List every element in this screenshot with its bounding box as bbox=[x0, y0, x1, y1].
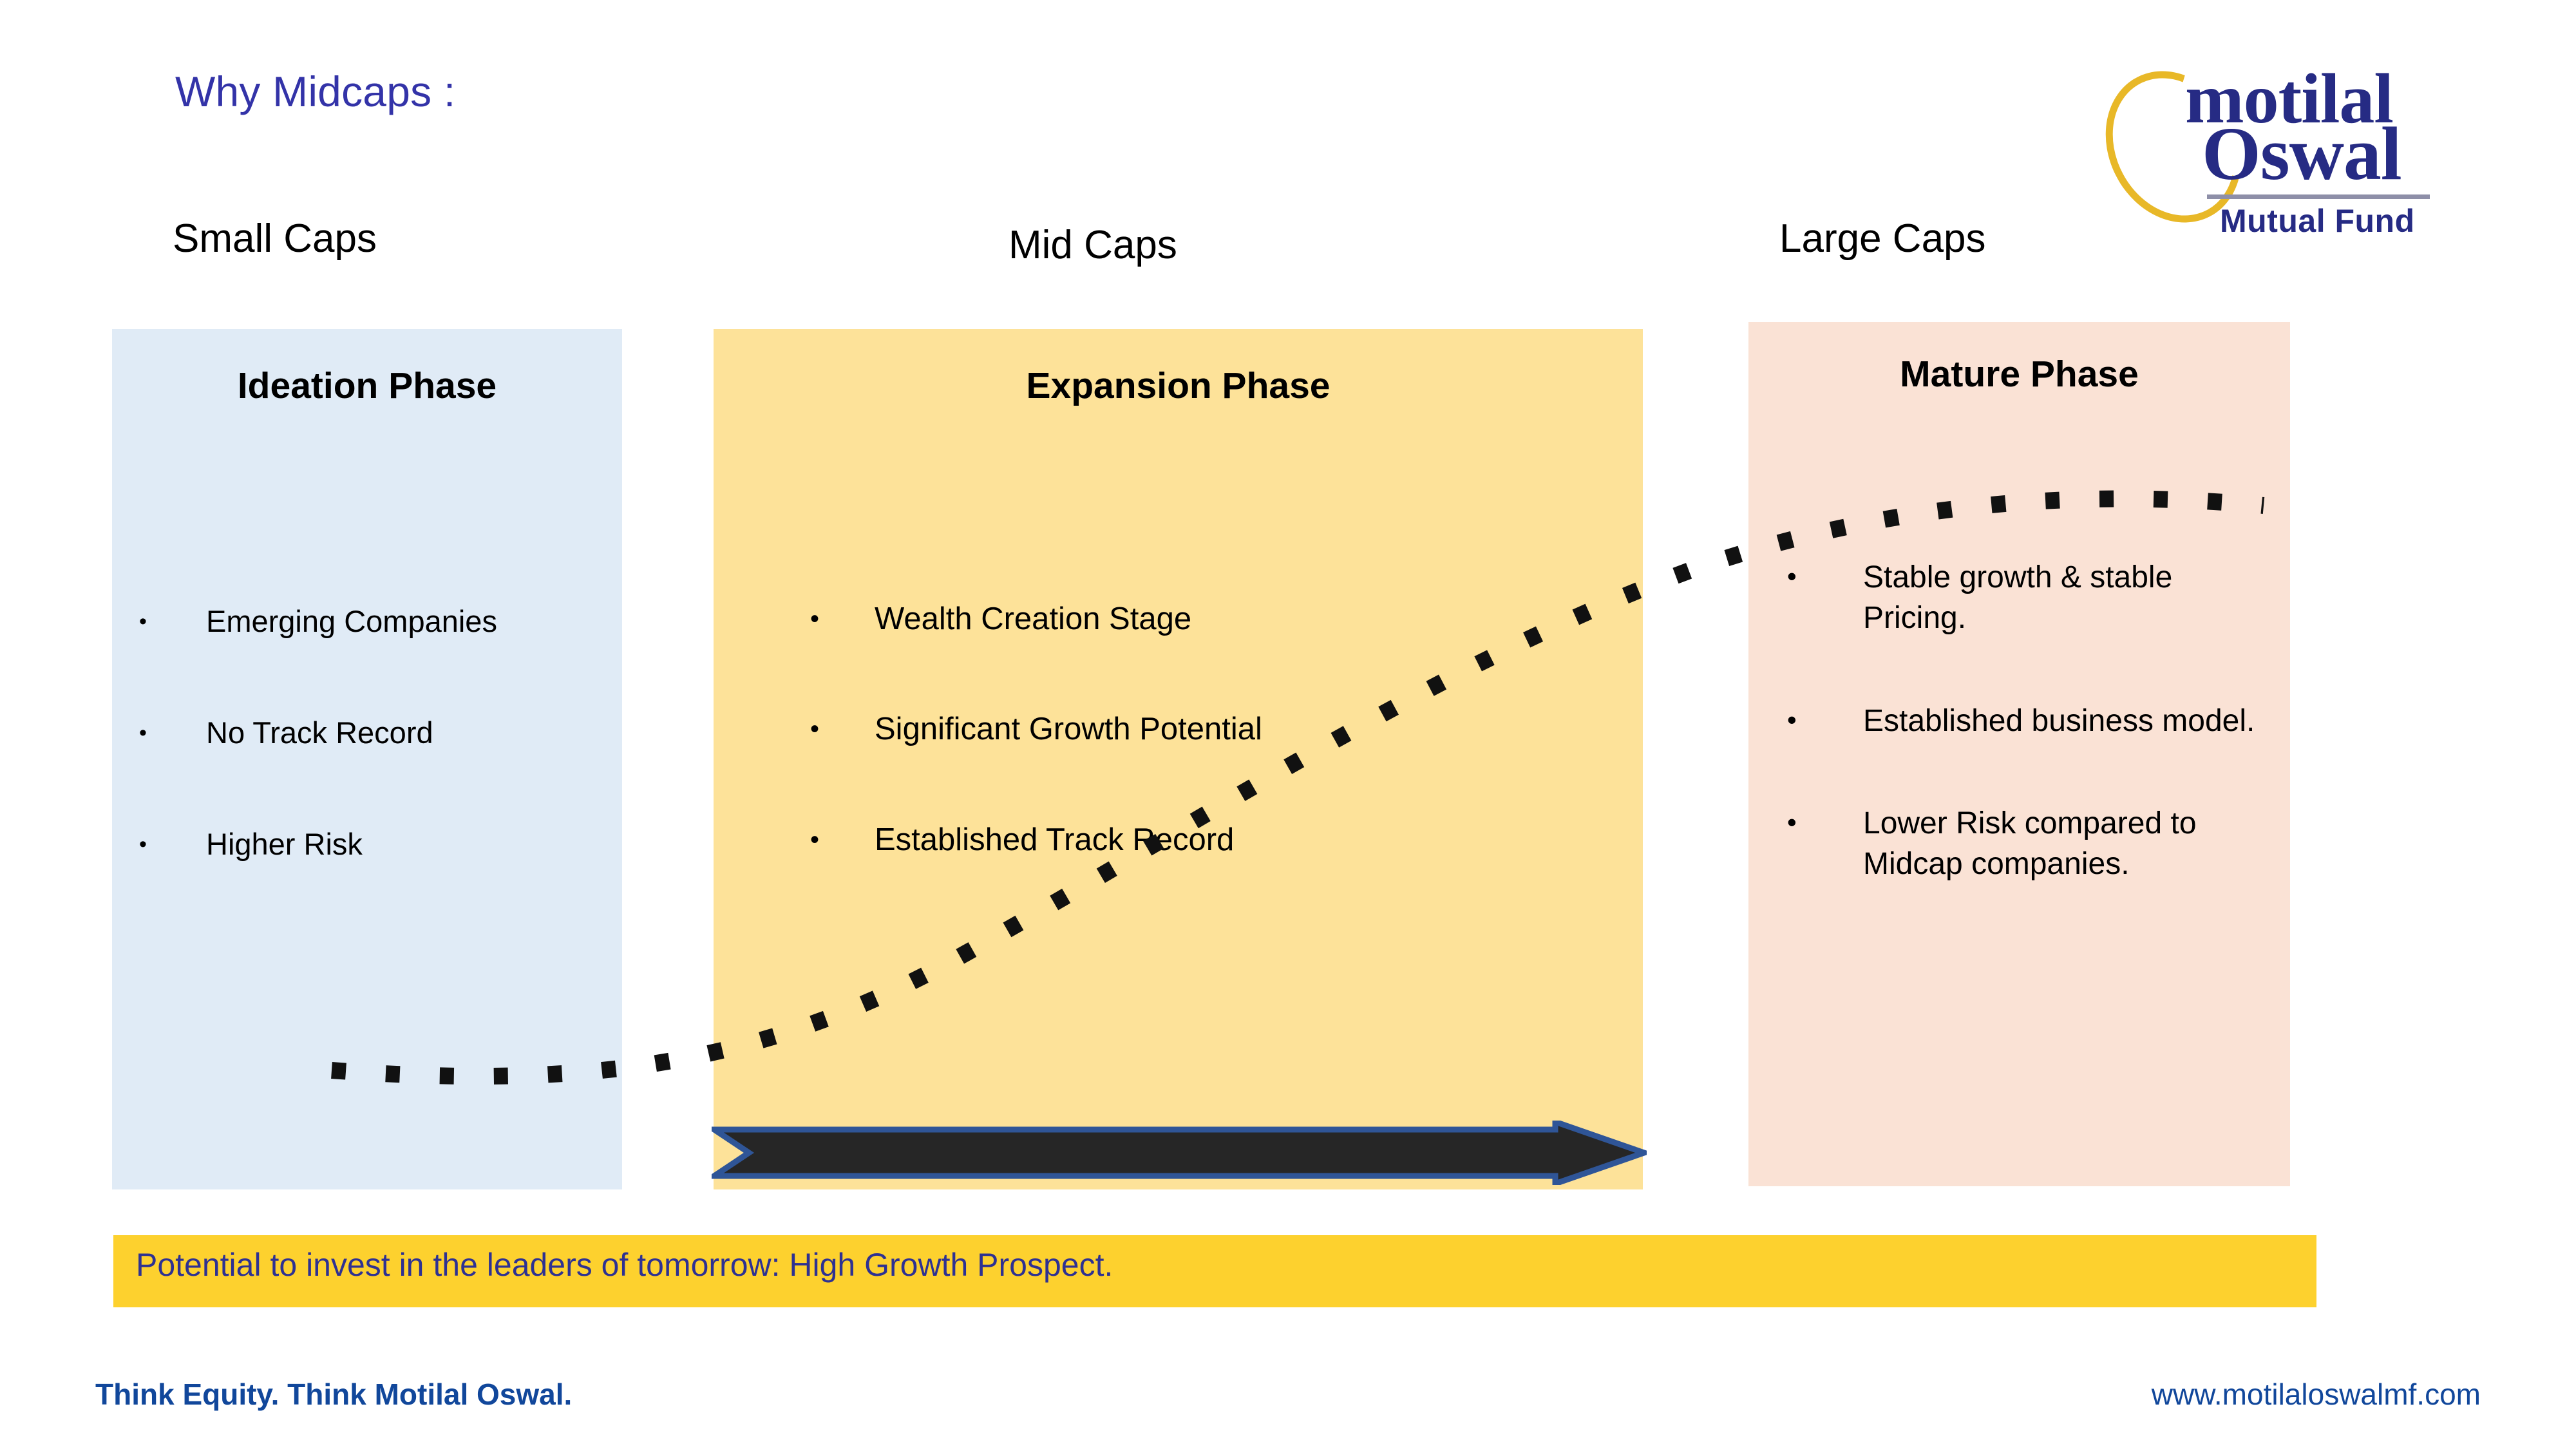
column-caption-small-caps: Small Caps bbox=[173, 216, 377, 261]
logo-subtitle: Mutual Fund bbox=[2220, 202, 2415, 240]
column-caption-mid-caps: Mid Caps bbox=[1009, 222, 1177, 268]
bullet-text: Stable growth & stable Pricing. bbox=[1863, 557, 2277, 639]
bullet-dot-icon: • bbox=[139, 826, 147, 863]
logo-divider bbox=[2207, 194, 2430, 199]
bullet-dot-icon: • bbox=[139, 714, 147, 752]
bullet-text: Established business model. bbox=[1863, 701, 2277, 741]
expansion-arrow-icon bbox=[712, 1121, 1647, 1185]
bullet-dot-icon: • bbox=[139, 603, 147, 640]
bullet-dot-icon: • bbox=[810, 710, 819, 748]
bullet-list-expansion: •Wealth Creation Stage •Significant Grow… bbox=[810, 600, 1551, 931]
bullet-text: Significant Growth Potential bbox=[875, 710, 1551, 749]
phase-box-ideation: Ideation Phase •Emerging Companies •No T… bbox=[112, 329, 622, 1189]
bullet-dot-icon: • bbox=[1787, 803, 1797, 842]
footer-website-link[interactable]: www.motilaloswalmf.com bbox=[2152, 1377, 2481, 1412]
highlight-banner: Potential to invest in the leaders of to… bbox=[113, 1235, 2316, 1307]
column-caption-large-caps: Large Caps bbox=[1779, 216, 1986, 261]
list-item: •Established business model. bbox=[1787, 701, 2277, 741]
slide-canvas: Why Midcaps : motilal Oswal Mutual Fund … bbox=[0, 0, 2576, 1449]
bullet-text: No Track Record bbox=[206, 714, 590, 752]
list-item: •Wealth Creation Stage bbox=[810, 600, 1551, 639]
bullet-dot-icon: • bbox=[1787, 557, 1797, 596]
phase-title-mature: Mature Phase bbox=[1748, 353, 2290, 395]
list-item: •Stable growth & stable Pricing. bbox=[1787, 557, 2277, 639]
bullet-list-mature: •Stable growth & stable Pricing. •Establ… bbox=[1787, 557, 2277, 947]
list-item: •Emerging Companies bbox=[139, 603, 590, 641]
motilal-oswal-logo: motilal Oswal Mutual Fund bbox=[2103, 57, 2515, 243]
logo-word-oswal: Oswal bbox=[2202, 116, 2401, 192]
bullet-dot-icon: • bbox=[1787, 701, 1797, 740]
bullet-dot-icon: • bbox=[810, 600, 819, 638]
phase-title-ideation: Ideation Phase bbox=[112, 365, 622, 407]
list-item: •Established Track Record bbox=[810, 820, 1551, 860]
bullet-text: Established Track Record bbox=[875, 820, 1551, 860]
phase-box-mature: Mature Phase •Stable growth & stable Pri… bbox=[1748, 322, 2290, 1186]
page-title: Why Midcaps : bbox=[175, 67, 455, 116]
list-item: •Higher Risk bbox=[139, 826, 590, 864]
phase-title-expansion: Expansion Phase bbox=[714, 365, 1643, 407]
bullet-text: Higher Risk bbox=[206, 826, 590, 864]
highlight-banner-text: Potential to invest in the leaders of to… bbox=[136, 1246, 1113, 1283]
phase-box-expansion: Expansion Phase •Wealth Creation Stage •… bbox=[714, 329, 1643, 1189]
bullet-text: Wealth Creation Stage bbox=[875, 600, 1551, 639]
bullet-dot-icon: • bbox=[810, 820, 819, 859]
footer-tagline: Think Equity. Think Motilal Oswal. bbox=[95, 1377, 572, 1412]
arrow-shape bbox=[714, 1122, 1644, 1184]
list-item: •No Track Record bbox=[139, 714, 590, 752]
list-item: •Significant Growth Potential bbox=[810, 710, 1551, 749]
bullet-list-ideation: •Emerging Companies •No Track Record •Hi… bbox=[139, 603, 590, 936]
bullet-text: Lower Risk compared to Midcap companies. bbox=[1863, 803, 2277, 885]
bullet-text: Emerging Companies bbox=[206, 603, 590, 641]
list-item: •Lower Risk compared to Midcap companies… bbox=[1787, 803, 2277, 885]
